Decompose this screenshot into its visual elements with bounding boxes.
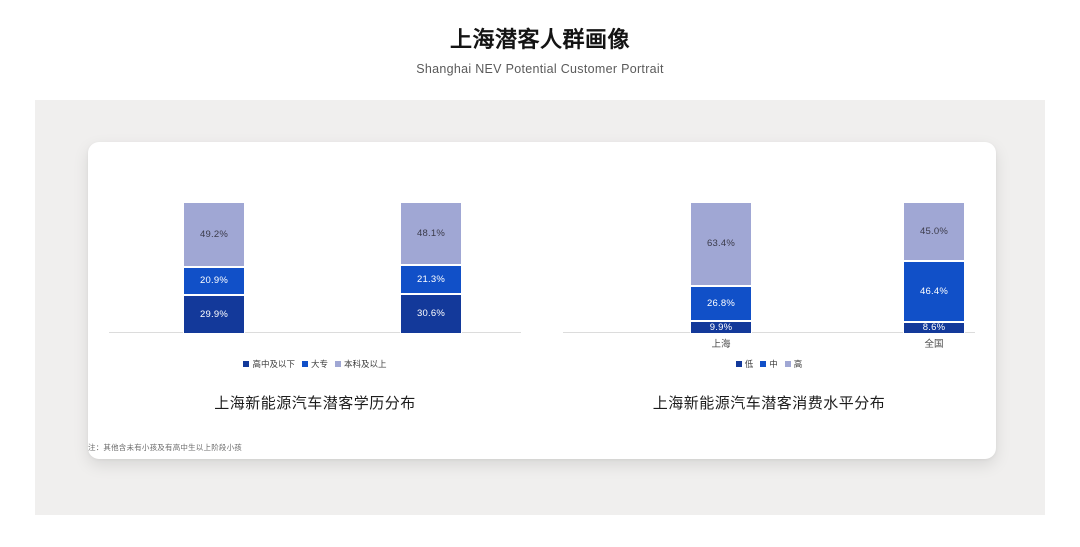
chart-card: 49.2% 20.9% 29.9% 48.1% 21.3% 30.6% 高中及以… xyxy=(88,142,996,459)
x-axis-label: 全国 xyxy=(903,336,965,350)
legend-item[interactable]: 低 xyxy=(736,358,754,370)
legend-label: 中 xyxy=(769,358,778,370)
bar-segment-high: 45.0% xyxy=(903,202,965,261)
bar-column[interactable]: 49.2% 20.9% 29.9% xyxy=(183,202,245,334)
legend-item[interactable]: 本科及以上 xyxy=(335,358,387,370)
legend-swatch-icon xyxy=(335,361,341,367)
bar-segment-high: 48.1% xyxy=(400,202,462,265)
bar-segment-low: 30.6% xyxy=(400,294,462,334)
bar-segment-mid: 20.9% xyxy=(183,267,245,295)
legend-label: 本科及以上 xyxy=(344,358,387,370)
page-subtitle: Shanghai NEV Potential Customer Portrait xyxy=(0,61,1080,77)
page-title: 上海潜客人群画像 xyxy=(0,26,1080,54)
chart-caption: 上海新能源汽车潜客消费水平分布 xyxy=(542,392,996,413)
legend-swatch-icon xyxy=(302,361,308,367)
bar-segment-mid: 46.4% xyxy=(903,261,965,322)
legend-swatch-icon xyxy=(243,361,249,367)
bar-segment-mid: 21.3% xyxy=(400,265,462,294)
page-header: 上海潜客人群画像 Shanghai NEV Potential Customer… xyxy=(0,26,1080,77)
legend-swatch-icon xyxy=(760,361,766,367)
legend-item[interactable]: 大专 xyxy=(302,358,328,370)
bar-column[interactable]: 45.0% 46.4% 8.6% xyxy=(903,202,965,334)
legend-item[interactable]: 高 xyxy=(785,358,803,370)
legend-swatch-icon xyxy=(785,361,791,367)
legend-label: 高中及以下 xyxy=(252,358,295,370)
chart-legend: 高中及以下 大专 本科及以上 xyxy=(88,358,542,370)
legend-swatch-icon xyxy=(736,361,742,367)
bar-segment-low: 9.9% xyxy=(690,321,752,334)
plot-area-education: 49.2% 20.9% 29.9% 48.1% 21.3% 30.6% xyxy=(88,142,542,334)
bar-segment-low: 29.9% xyxy=(183,295,245,334)
legend-label: 大专 xyxy=(311,358,328,370)
bar-column[interactable]: 63.4% 26.8% 9.9% xyxy=(690,202,752,334)
bar-segment-high: 63.4% xyxy=(690,202,752,286)
chart-legend: 低 中 高 xyxy=(542,358,996,370)
x-axis-label: 上海 xyxy=(690,336,752,350)
legend-item[interactable]: 中 xyxy=(760,358,778,370)
bar-column[interactable]: 48.1% 21.3% 30.6% xyxy=(400,202,462,334)
chart-education: 49.2% 20.9% 29.9% 48.1% 21.3% 30.6% 高中及以… xyxy=(88,142,542,459)
bar-segment-mid: 26.8% xyxy=(690,286,752,321)
footnote: 注：其他含未有小孩及有高中生以上阶段小孩 xyxy=(88,442,242,453)
legend-label: 高 xyxy=(794,358,803,370)
bar-segment-low: 8.6% xyxy=(903,322,965,334)
legend-label: 低 xyxy=(745,358,754,370)
bar-segment-high: 49.2% xyxy=(183,202,245,267)
legend-item[interactable]: 高中及以下 xyxy=(243,358,295,370)
chart-caption: 上海新能源汽车潜客学历分布 xyxy=(88,392,542,413)
plot-area-consumption: 63.4% 26.8% 9.9% 45.0% 46.4% 8.6% 上海 全国 xyxy=(542,142,996,334)
chart-consumption: 63.4% 26.8% 9.9% 45.0% 46.4% 8.6% 上海 全国 … xyxy=(542,142,996,459)
